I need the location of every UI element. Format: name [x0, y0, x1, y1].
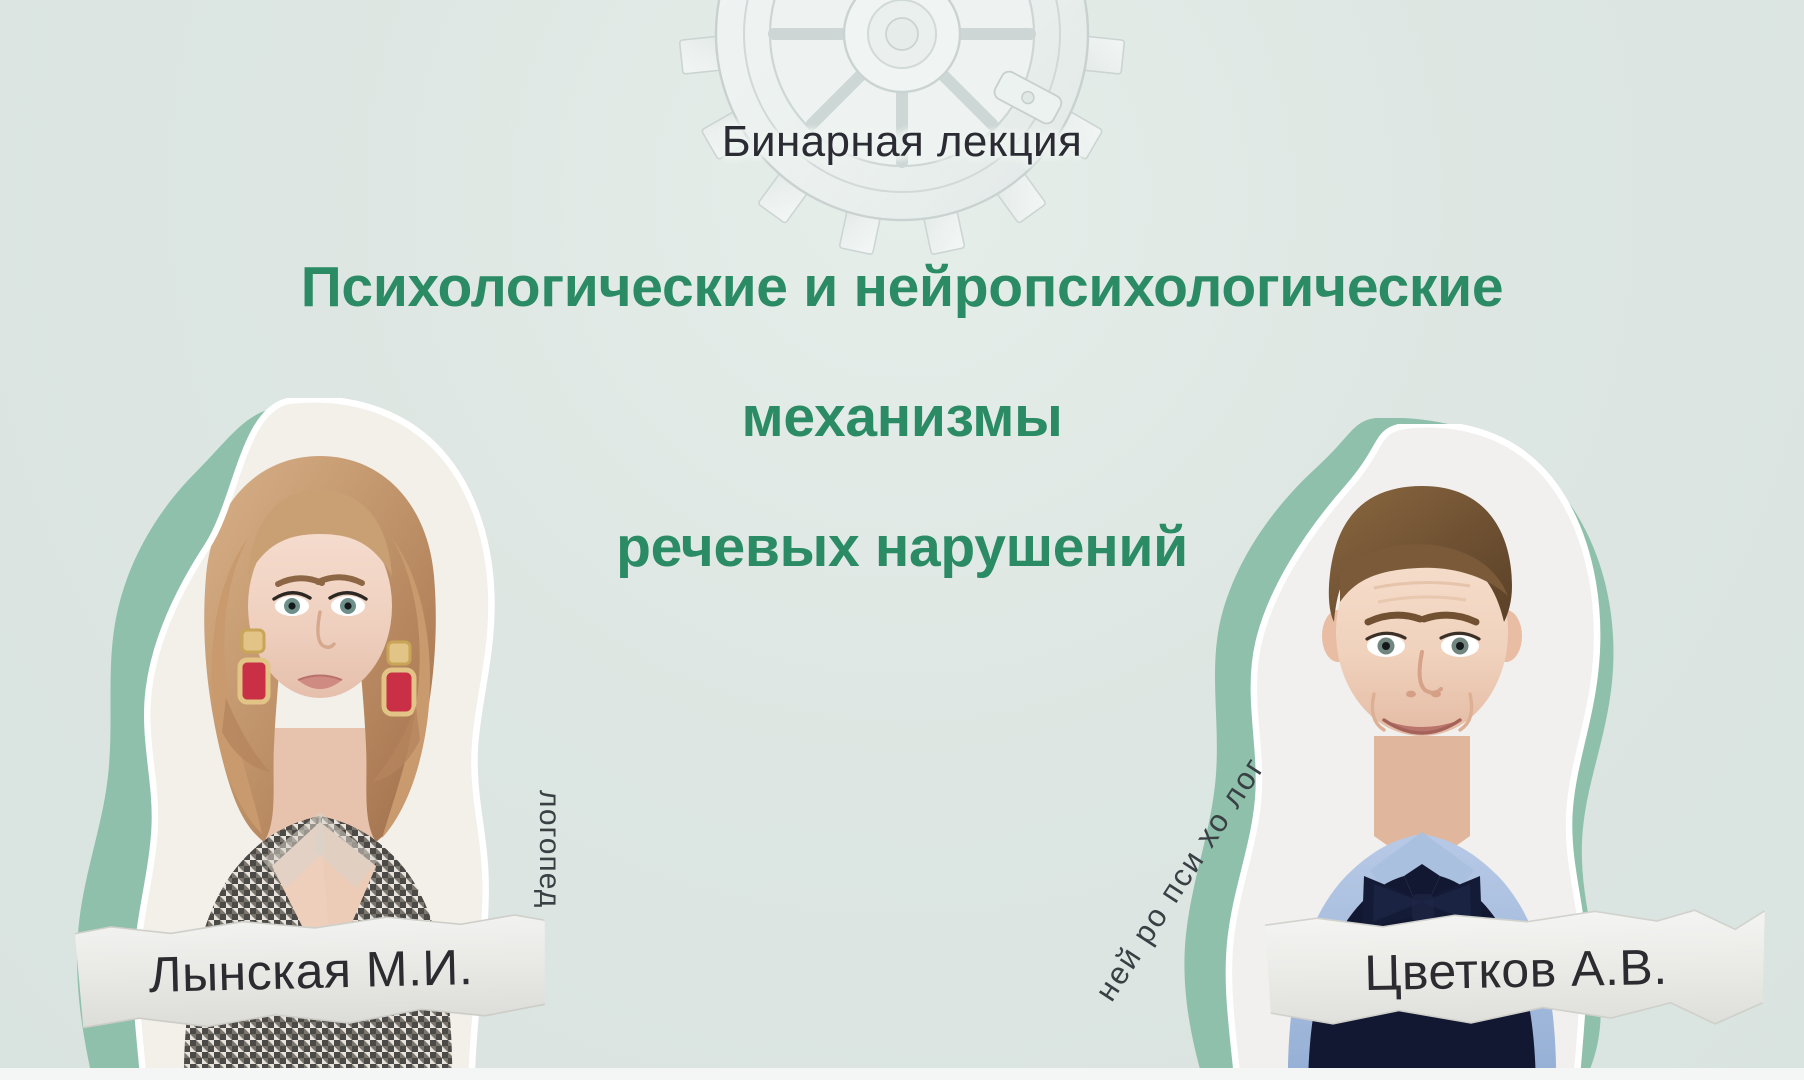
speaker-name-tape-lynskaya: Лынская М.И. — [75, 908, 548, 1037]
bottom-strip — [0, 1068, 1804, 1080]
speaker-role-lynskaya: логопед — [532, 790, 566, 908]
speaker-name-tape-tsvetkov: Цветков А.В. — [1265, 905, 1767, 1039]
lecture-type-subtitle: Бинарная лекция — [0, 117, 1804, 168]
lecture-title-slide: Бинарная лекция Психологические и нейроп… — [0, 0, 1804, 1080]
speaker-name-lynskaya: Лынская М.И. — [75, 936, 546, 1009]
page-title-line-1: Психологические и нейропсихологические — [0, 254, 1804, 320]
page-title-line-2: механизмы — [0, 384, 1804, 450]
page-title: Психологические и нейропсихологические м… — [0, 254, 1804, 580]
page-title-line-3: речевых нарушений — [0, 514, 1804, 580]
speaker-name-tsvetkov: Цветков А.В. — [1265, 936, 1766, 1008]
